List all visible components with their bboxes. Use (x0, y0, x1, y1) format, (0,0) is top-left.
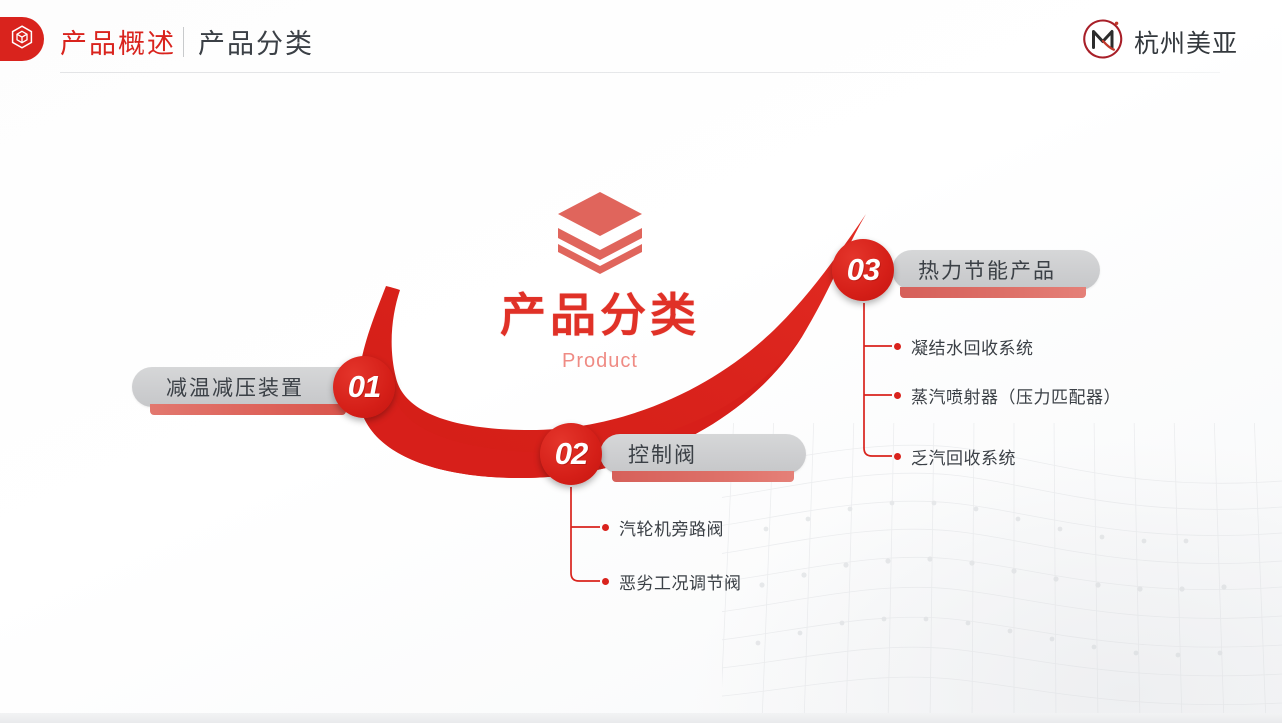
node-03-item-0[interactable]: 凝结水回收系统 (911, 334, 1034, 359)
page-subtitle: 产品分类 (198, 22, 314, 61)
node-03-pill[interactable]: 热力节能产品 (892, 250, 1100, 290)
node-01-pill[interactable]: 减温减压装置 (132, 367, 360, 407)
node-02-badge[interactable]: 02 (540, 423, 602, 485)
page-title: 产品概述 (60, 22, 176, 61)
circle-m-logo-icon (1080, 16, 1126, 67)
node-03-number: 03 (847, 252, 879, 288)
bullet-dot-icon (602, 578, 609, 585)
bullet-dot-icon (894, 343, 901, 350)
node-03-label: 热力节能产品 (918, 255, 1056, 285)
node-03-underline (900, 287, 1086, 298)
layers-stack-icon (552, 261, 648, 278)
node-01-underline (150, 404, 346, 415)
center-title: 产品分类 (470, 289, 730, 342)
node-02-item-0[interactable]: 汽轮机旁路阀 (619, 515, 724, 540)
header-rule (60, 72, 1220, 73)
center-subtitle: Product (470, 350, 730, 373)
bullet-dot-icon (602, 524, 609, 531)
node-03-item-1[interactable]: 蒸汽喷射器（压力匹配器） (911, 383, 1121, 408)
center-title-block: 产品分类 Product (470, 188, 730, 373)
node-03-item-2[interactable]: 乏汽回收系统 (911, 444, 1016, 469)
header-badge (0, 17, 44, 61)
node-01-label: 减温减压装置 (166, 372, 304, 402)
header-separator (183, 27, 184, 57)
node-03-badge[interactable]: 03 (832, 239, 894, 301)
node-02-label: 控制阀 (628, 439, 697, 469)
node-02-number: 02 (555, 436, 587, 472)
footer-band (0, 713, 1282, 723)
node-01-badge[interactable]: 01 (333, 356, 395, 418)
node-02-item-1[interactable]: 恶劣工况调节阀 (619, 569, 742, 594)
node-02-pill[interactable]: 控制阀 (600, 434, 806, 474)
node-02-underline (612, 471, 794, 482)
node-01-number: 01 (348, 369, 380, 405)
bullet-dot-icon (894, 453, 901, 460)
bullet-dot-icon (894, 392, 901, 399)
slide-canvas: 产品概述 产品分类 杭州美亚 (0, 0, 1282, 723)
logo-text: 杭州美亚 (1134, 24, 1238, 60)
cube-hexagon-icon (9, 24, 35, 55)
company-logo: 杭州美亚 (1080, 16, 1238, 67)
slide-header: 产品概述 产品分类 杭州美亚 (0, 0, 1282, 78)
